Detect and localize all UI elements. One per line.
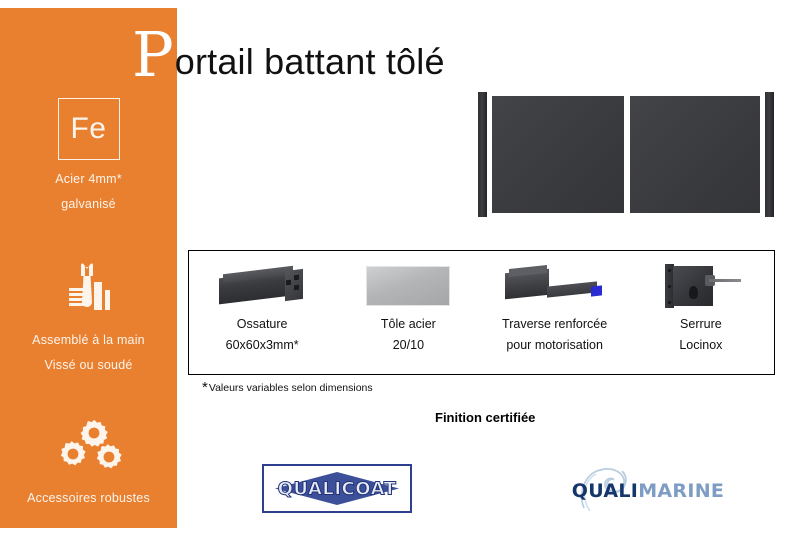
- page-title-rest: ortail battant tôlé: [175, 44, 445, 80]
- qualimarine-logo: QUALIMARINE: [564, 466, 732, 512]
- sidebar-item-accessories: Accessoires robustes: [0, 418, 177, 505]
- gate-leaf-left: [492, 96, 624, 213]
- gate-post-right: [765, 92, 774, 217]
- feature-ossature-line1: Ossature: [237, 315, 288, 333]
- feature-tole-line2: 20/10: [393, 336, 424, 354]
- feature-ossature-line2: 60x60x3mm*: [226, 336, 299, 354]
- feature-tole-acier: Tôle acier 20/10: [335, 251, 481, 374]
- material-label-line2: galvanisé: [0, 198, 177, 211]
- qualicoat-label: QUALICOAT: [264, 478, 410, 499]
- fe-symbol-label: Fe: [70, 114, 106, 144]
- accessories-label: Accessoires robustes: [0, 492, 177, 505]
- gate-leaf-right: [630, 96, 760, 213]
- qualimarine-label: QUALIMARINE: [564, 480, 732, 502]
- motor-actuator-icon: [482, 260, 628, 312]
- qualicoat-logo: QUALICOAT: [262, 464, 412, 513]
- wrench-tools-icon: [0, 260, 177, 322]
- assembly-label-line1: Assemblé à la main: [0, 334, 177, 347]
- steel-profile-icon: [189, 260, 335, 312]
- feature-tole-line1: Tôle acier: [381, 315, 436, 333]
- lock-icon: [628, 260, 774, 312]
- assembly-label-line2: Vissé ou soudé: [0, 359, 177, 372]
- feature-traverse-line1: Traverse renforcée: [502, 315, 607, 333]
- footnote: *Valeurs variables selon dimensions: [202, 379, 373, 396]
- steel-sheet-icon: [335, 260, 481, 312]
- feature-serrure: Serrure Locinox: [628, 251, 774, 374]
- footnote-text: Valeurs variables selon dimensions: [209, 382, 373, 394]
- feature-traverse: Traverse renforcée pour motorisation: [482, 251, 628, 374]
- qualimarine-label-part1: QUALI: [572, 480, 638, 502]
- swing-gate-photo: [478, 92, 774, 217]
- feature-ossature: Ossature 60x60x3mm*: [189, 251, 335, 374]
- certification-heading: Finition certifiée: [435, 410, 535, 425]
- gears-icon: [0, 418, 177, 480]
- feature-serrure-line2: Locinox: [679, 336, 722, 354]
- page-title: P ortail battant tôlé: [132, 22, 445, 86]
- page-title-initial: P: [132, 24, 174, 86]
- features-panel: Ossature 60x60x3mm* Tôle acier 20/10: [188, 250, 775, 375]
- sidebar-item-material: Fe Acier 4mm* galvanisé: [0, 98, 177, 211]
- footnote-asterisk: *: [202, 379, 208, 396]
- product-spec-sheet: Fe Acier 4mm* galvanisé: [0, 0, 800, 534]
- qualimarine-label-part2: MARINE: [638, 480, 724, 502]
- fe-element-icon: Fe: [58, 98, 120, 160]
- feature-serrure-line1: Serrure: [680, 315, 722, 333]
- material-label-line1: Acier 4mm*: [0, 173, 177, 186]
- sidebar-item-assembly: Assemblé à la main Vissé ou soudé: [0, 260, 177, 372]
- gate-post-left: [478, 92, 487, 217]
- feature-traverse-line2: pour motorisation: [506, 336, 603, 354]
